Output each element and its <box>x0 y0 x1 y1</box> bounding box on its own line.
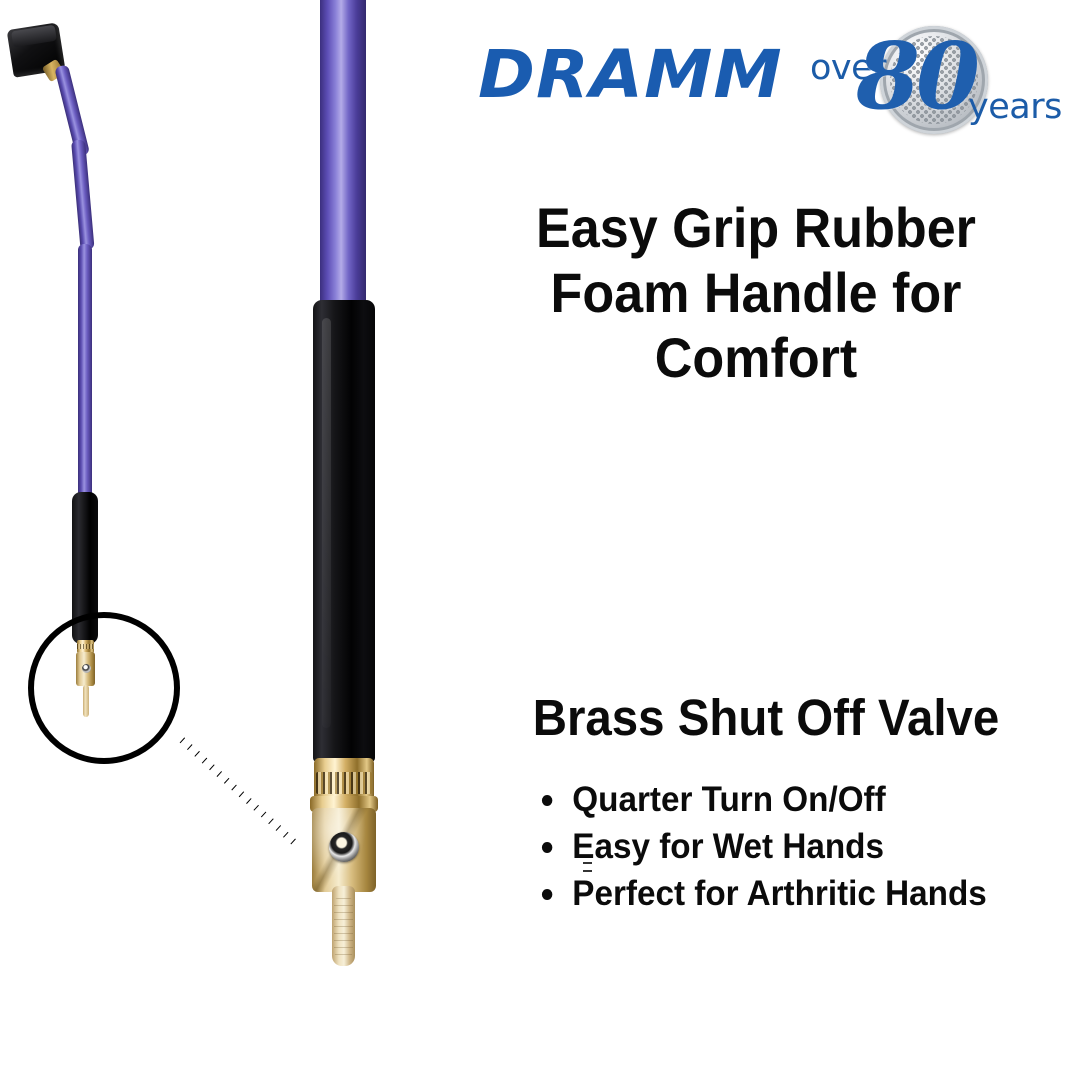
bullet-icon <box>542 795 552 806</box>
brand-wordmark: DRAMM <box>478 42 783 108</box>
wand-tube-detail <box>320 0 366 316</box>
list-item-label: Quarter Turn On/Off <box>572 780 885 819</box>
product-feature-image: DRAMM over 80 years Easy Grip Rubber Foa… <box>0 0 1080 1080</box>
list-item-label: Perfect for Arthritic Hands <box>572 874 986 913</box>
product-photo-full-wand <box>0 0 220 760</box>
bullet-icon <box>542 842 552 853</box>
bullet-icon <box>542 889 552 900</box>
anniversary-years-label: years <box>968 90 1062 125</box>
callout-ring <box>28 612 180 764</box>
brand-logo: DRAMM over 80 years <box>470 24 1065 139</box>
page-title-grip: Easy Grip Rubber Foam Handle for Comfort <box>462 196 1050 391</box>
valve-collar-knurling <box>316 772 372 794</box>
page-title-valve: Brass Shut Off Valve <box>481 688 1050 747</box>
list-item: Perfect for Arthritic Hands <box>540 870 1044 917</box>
feature-list: Quarter Turn On/Off Easy for Wet Hands P… <box>540 776 1070 917</box>
list-item: Easy for Wet Hands <box>540 823 1044 870</box>
list-item-label: Easy for Wet Hands <box>572 827 884 866</box>
valve-nut-large <box>329 832 359 862</box>
list-item: Quarter Turn On/Off <box>540 776 1044 823</box>
product-photo-detail-wand <box>296 0 436 980</box>
wand-tube-lower <box>78 244 92 506</box>
stray-artifact-mark <box>583 862 592 872</box>
anniversary-badge: over 80 years <box>808 24 1066 139</box>
valve-lever-ribs <box>334 898 353 956</box>
wand-tube-bend <box>71 139 95 250</box>
anniversary-number: 80 <box>856 30 976 122</box>
foam-grip-highlight <box>322 318 331 728</box>
